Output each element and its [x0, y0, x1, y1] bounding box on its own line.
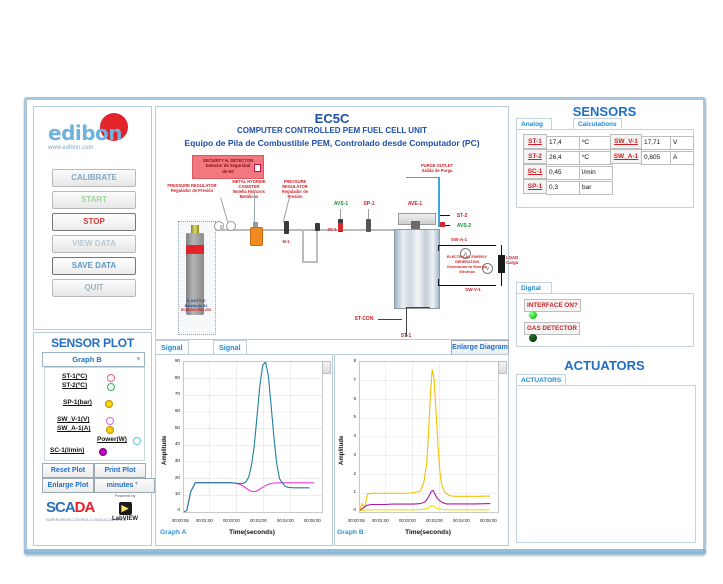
security-h-detector-box: SECURITY H, DETECTOR Detector de Segurid… — [192, 155, 264, 179]
graph-b-ytick-7: 7 — [341, 377, 356, 382]
graph-a-gridlines — [184, 362, 322, 512]
graph-b-xlabel: Time(seconds) — [370, 529, 486, 536]
sensor-unit-st2: ºC — [579, 151, 613, 165]
electrical-energy-generation-label: ELECTRICAL ENERGY GENERATION Generación … — [440, 255, 494, 275]
sensor-unit-st1: ºC — [579, 136, 613, 150]
print-plot-button[interactable]: Print Plot — [94, 463, 146, 478]
hydrogen-bottle-band — [186, 245, 204, 254]
leader-sp1 — [368, 209, 369, 219]
left-control-panel: edibon www.edibon.com CALIBRATE START ST… — [33, 106, 152, 330]
legend-label-sc1: SC-1(l/min) — [50, 447, 84, 454]
bottle-l3: EDIBON-HSB-200 — [181, 308, 211, 312]
sensor-plot-title: SENSOR PLOT — [34, 336, 151, 350]
graph-a-svg — [184, 362, 322, 512]
actuators-title: ACTUATORS — [512, 358, 697, 373]
pid-diagram[interactable]: SECURITY H, DETECTOR Detector de Segurid… — [156, 151, 508, 339]
security-line2: Detector de Seguridad — [206, 163, 251, 168]
legend-dot-power — [133, 437, 141, 445]
st1-line-horizontal — [406, 307, 430, 308]
sensor-tag-st2: ST-2 — [523, 149, 547, 164]
graph-select-dropdown[interactable]: Graph B ▾ — [42, 352, 145, 367]
sensor-unit-swa1: A — [670, 151, 694, 165]
purge-outlet-label: PURGE OUTLET Salida de Purga — [408, 163, 466, 173]
m1-tag: M-1 — [276, 239, 296, 244]
graph-b-ytick-0: 0 — [341, 507, 356, 512]
purge-line-vertical — [438, 177, 440, 227]
graph-b-xtick-3: 00:03:00 — [426, 518, 443, 523]
scada-word-a: SCA — [46, 499, 75, 516]
analog-sensors-content: ST-1 17,4 ºC ST-2 26,4 ºC SC-1 0,45 l/mi… — [516, 129, 694, 208]
graph-b-xtick-4: 00:04:00 — [453, 518, 470, 523]
sensors-panel: Analog Sensors Calculations ST-1 17,4 ºC… — [512, 118, 697, 218]
legend-label-st1: ST-1(ºC) — [62, 373, 87, 380]
graph-b-xtick-1: 00:01:00 — [372, 518, 389, 523]
graph-b-xtick-5: 00:05:00 — [480, 518, 497, 523]
pr1-es: Regulador de Presión — [171, 188, 213, 193]
graph-b-series-sp1 — [360, 370, 490, 510]
purge-es: Salida de Purga — [422, 168, 453, 173]
elec-en2: GENERATION — [455, 260, 479, 264]
circuit-bottom-wire — [438, 285, 496, 286]
graph-a-series-st1 — [184, 483, 314, 512]
sensor-value-sp1[interactable]: 0,3 — [546, 181, 582, 195]
scada-word-b: DA — [75, 499, 95, 516]
bottle-l1: H. BOTTLE — [187, 299, 206, 303]
view-data-button[interactable]: VIEW DATA — [52, 235, 136, 253]
graph-a-ytick-20: 20 — [164, 475, 180, 480]
graph-b-xtick-2: 00:02:00 — [399, 518, 416, 523]
unit-code-title: EC5C — [156, 111, 508, 126]
sensor-unit-sc1: l/min — [579, 166, 613, 180]
security-h-detector-text: SECURITY H, DETECTOR Detector de Segurid… — [193, 158, 263, 174]
legend-dot-swa1 — [106, 426, 114, 434]
labview-logo: Powered by ▶ LabVIEW — [108, 493, 142, 522]
graph-b-ylabel: Amplitude — [339, 436, 345, 465]
enlarge-plot-button[interactable]: Enlarge Plot — [42, 478, 94, 493]
sensors-title: SENSORS — [512, 104, 697, 119]
window-bottom-accent — [24, 549, 706, 554]
leader-line-mhc — [254, 193, 255, 223]
mhc-es: Botella Hidruros Metálicos — [233, 189, 265, 199]
regulator-stem — [220, 225, 222, 231]
gas-detector-led — [529, 334, 537, 342]
sensor-tag-st1: ST-1 — [523, 134, 547, 149]
graph-a-ytick-80: 80 — [164, 375, 180, 380]
edibon-logo: edibon www.edibon.com — [34, 111, 151, 163]
save-data-button[interactable]: SAVE DATA — [52, 257, 136, 275]
sc1-branch-down — [302, 229, 304, 263]
graph-b-plot-area[interactable] — [359, 361, 499, 513]
graph-a-xtick-2: 00:02:00 — [223, 518, 240, 523]
circuit-top-stub — [438, 245, 439, 251]
sc1-branch-up — [316, 231, 318, 263]
graph-b-svg — [360, 362, 498, 512]
graph-a-ytick-10: 10 — [164, 491, 180, 496]
interface-on-led — [529, 311, 537, 319]
graph-b-ytick-6: 6 — [341, 396, 356, 401]
actuators-content — [516, 385, 696, 543]
hydrogen-bottle-label: H. BOTTLE Botella de H2 EDIBON-HSB-200 — [172, 299, 220, 313]
digital-sensors-panel: Digital Sensors INTERFACE ON? GAS DETECT… — [512, 282, 697, 358]
graph-a-xtick-1: 00:01:00 — [196, 518, 213, 523]
legend-dot-swv1 — [106, 417, 114, 425]
st2-tag: ST-2 — [452, 213, 472, 219]
graph-a-ytick-70: 70 — [164, 391, 180, 396]
graph-a-xtick-3: 00:03:00 — [250, 518, 267, 523]
graph-b-xtick-0: 00:00:06 — [348, 518, 365, 523]
chevron-down-icon: ▾ — [134, 355, 143, 364]
valve-avs1-body — [338, 223, 343, 231]
graph-a-ytick-50: 50 — [164, 425, 180, 430]
sensor-tag-swa1: SW_A-1 — [610, 149, 642, 164]
pressure-gauge-right-icon — [226, 221, 236, 231]
st2-pointer — [440, 215, 450, 216]
app-root: edibon www.edibon.com CALIBRATE START ST… — [0, 0, 723, 584]
graph-b-scrollbar[interactable] — [498, 361, 507, 374]
labview-play-icon: ▶ — [119, 502, 132, 515]
edibon-logo-text: edibon — [48, 121, 122, 145]
metal-hydride-canister-icon — [250, 227, 263, 246]
graph-b-panel: 8 7 6 5 4 3 2 1 0 Amplitude 00:00:06 00:… — [334, 354, 509, 546]
swa1-tag: SW-A-1 — [442, 237, 476, 243]
circuit-top-wire — [438, 245, 496, 246]
graph-a-xlabel: Time(seconds) — [194, 529, 310, 536]
digital-sensors-content: INTERFACE ON? GAS DETECTOR — [516, 293, 694, 347]
fuel-cell-stack — [394, 229, 440, 309]
bottle-l2: Botella de H2 — [185, 304, 208, 308]
time-unit-dropdown[interactable]: minutes — [94, 478, 155, 493]
mhc-en: METAL HYDRIDE CANISTER — [232, 179, 265, 189]
graph-a-ytick-90: 90 — [164, 358, 180, 363]
window-inner: edibon www.edibon.com CALIBRATE START ST… — [27, 100, 703, 552]
graph-a-name: Graph A — [160, 529, 187, 536]
sensor-unit-swv1: V — [670, 136, 694, 150]
sensor-unit-sp1: bar — [579, 181, 613, 195]
leader-line-pr1 — [220, 197, 229, 224]
graph-a-ytick-60: 60 — [164, 408, 180, 413]
leader-avs1 — [340, 209, 341, 219]
legend-dot-st2 — [107, 383, 115, 391]
tab-signal-vs-time[interactable]: Signal Vs Time — [155, 340, 189, 354]
pressure-gauge-left-icon — [214, 221, 224, 231]
graph-a-ylabel: Amplitude — [162, 436, 168, 465]
unit-title-es: Equipo de Pila de Combustible PEM, Contr… — [156, 138, 508, 148]
sensor-plot-panel: SENSOR PLOT Graph B ▾ ST-1(ºC) ST-2(ºC) … — [33, 332, 152, 546]
sensor-value-swv1[interactable]: 17,71 — [641, 136, 673, 150]
scada-logo-text: SCADA — [46, 499, 94, 516]
graph-b-gridlines — [360, 362, 498, 512]
quit-button[interactable]: QUIT — [52, 279, 136, 297]
sensor-plot-legend: ST-1(ºC) ST-2(ºC) SP-1(bar) SW_V-1(V) SW… — [44, 367, 145, 461]
application-window: edibon www.edibon.com CALIBRATE START ST… — [24, 97, 706, 555]
elec-es2: Eléctrica — [459, 270, 474, 274]
graph-a-panel: 90 80 70 60 50 40 30 20 10 0 Amplitude 0… — [155, 354, 333, 546]
edibon-url: www.edibon.com — [48, 145, 93, 151]
graph-b-ytick-1: 1 — [341, 489, 356, 494]
graph-a-scrollbar[interactable] — [322, 361, 331, 374]
sensor-value-st2[interactable]: 26,4 — [546, 151, 582, 165]
graph-b-name: Graph B — [337, 529, 364, 536]
elec-es1: Generación de Energía — [447, 265, 487, 269]
circuit-load-bottom-wire — [501, 272, 502, 286]
sensor-value-st1[interactable]: 17,4 — [546, 136, 582, 150]
metal-hydride-canister-label: METAL HYDRIDE CANISTER Botella Hidruros … — [224, 179, 274, 199]
process-diagram-panel: EC5C COMPUTER CONTROLLED PEM FUEL CELL U… — [155, 106, 509, 340]
sensor-sp1-icon — [366, 219, 371, 232]
powered-by-label: Powered by — [108, 493, 142, 498]
legend-label-sp1: SP-1(bar) — [63, 399, 92, 406]
start-button[interactable]: START — [52, 191, 136, 209]
unit-title-en: COMPUTER CONTROLLED PEM FUEL CELL UNIT — [156, 126, 508, 135]
legend-label-swv1: SW_V-1(V) — [57, 416, 90, 423]
legend-dot-st1 — [107, 374, 115, 382]
calibrate-button[interactable]: CALIBRATE — [52, 169, 136, 187]
graph-b-ytick-2: 2 — [341, 471, 356, 476]
labview-label: LabVIEW — [108, 516, 142, 522]
main-actions: CALIBRATE START STOP VIEW DATA SAVE DATA… — [52, 169, 134, 301]
legend-dot-sc1 — [99, 448, 107, 456]
sensor-tag-sp1: SP-1 — [523, 179, 547, 194]
graph-select-value: Graph B — [43, 353, 131, 366]
legend-label-swa1: SW_A-1(A) — [57, 425, 91, 432]
security-line1: SECURITY H, DETECTOR — [203, 158, 254, 163]
ave1-tag: AVE-1 — [400, 201, 430, 207]
avs2-tag: AVS-2 — [452, 223, 476, 229]
legend-dot-sp1 — [105, 400, 113, 408]
graph-a-xtick-5: 00:05:00 — [304, 518, 321, 523]
graph-a-plot-area[interactable] — [183, 361, 323, 513]
avs2-marker — [440, 222, 445, 227]
security-detector-led — [254, 164, 261, 172]
actuators-panel: ACTUATORS A — [516, 374, 697, 544]
graph-b-ytick-8: 8 — [341, 358, 356, 363]
stop-button[interactable]: STOP — [52, 213, 136, 231]
st1-tag: ST-1 — [392, 333, 420, 339]
pressure-regulator-1-label: PRESSURE REGULATOR Regulador de Presión — [162, 183, 222, 193]
graph-b-ytick-5: 5 — [341, 414, 356, 419]
legend-label-st2: ST-2(ºC) — [62, 382, 87, 389]
stcon-tag: ST-CON — [348, 316, 380, 322]
load-es: Carga — [506, 260, 518, 265]
valve-m1-icon — [284, 221, 289, 234]
graph-a-ytick-0: 0 — [164, 507, 180, 512]
legend-label-power: Power(W) — [97, 436, 127, 443]
pressure-regulator-2-label: PRESSURE REGULATOR Regulador de Presión — [274, 179, 316, 199]
pr2-en: PRESSURE REGULATOR — [282, 179, 308, 189]
circuit-bottom-stub — [438, 279, 439, 286]
pr2-es: Regulador de Presión — [282, 189, 308, 199]
graph-a-xtick-0: 00:00:06 — [172, 518, 189, 523]
security-line3: de H2 — [222, 169, 233, 174]
purge-line-horizontal — [406, 177, 440, 178]
stcon-line — [378, 319, 402, 320]
tab-signal-vs-signal[interactable]: Signal vs Signal — [213, 340, 247, 354]
sensor-value-sc1[interactable]: 0,45 — [546, 166, 582, 180]
elec-en1: ELECTRICAL ENERGY — [447, 255, 487, 259]
sensor-tag-sc1: SC-1 — [523, 164, 547, 179]
chevron-down-icon-time-unit: ▾ — [135, 480, 138, 487]
graph-a-xtick-4: 00:04:00 — [277, 518, 294, 523]
avs1-tag: AVS-1 — [328, 201, 354, 207]
graph-b-series-swa1 — [360, 506, 490, 511]
sp1-tag: SP-1 — [356, 201, 382, 207]
sensor-tag-swv1: SW_V-1 — [610, 134, 642, 149]
scada-logo: SCADA SUPERVISION CONTROL & DATA ACQUISI… — [46, 493, 141, 535]
reset-plot-button[interactable]: Reset Plot — [42, 463, 94, 478]
swv1-tag: SW-V-1 — [456, 287, 490, 293]
sc1-valve-icon — [315, 223, 320, 231]
sensor-value-swa1[interactable]: 0,805 — [641, 151, 673, 165]
sensors-header: SENSORS — [512, 104, 697, 119]
